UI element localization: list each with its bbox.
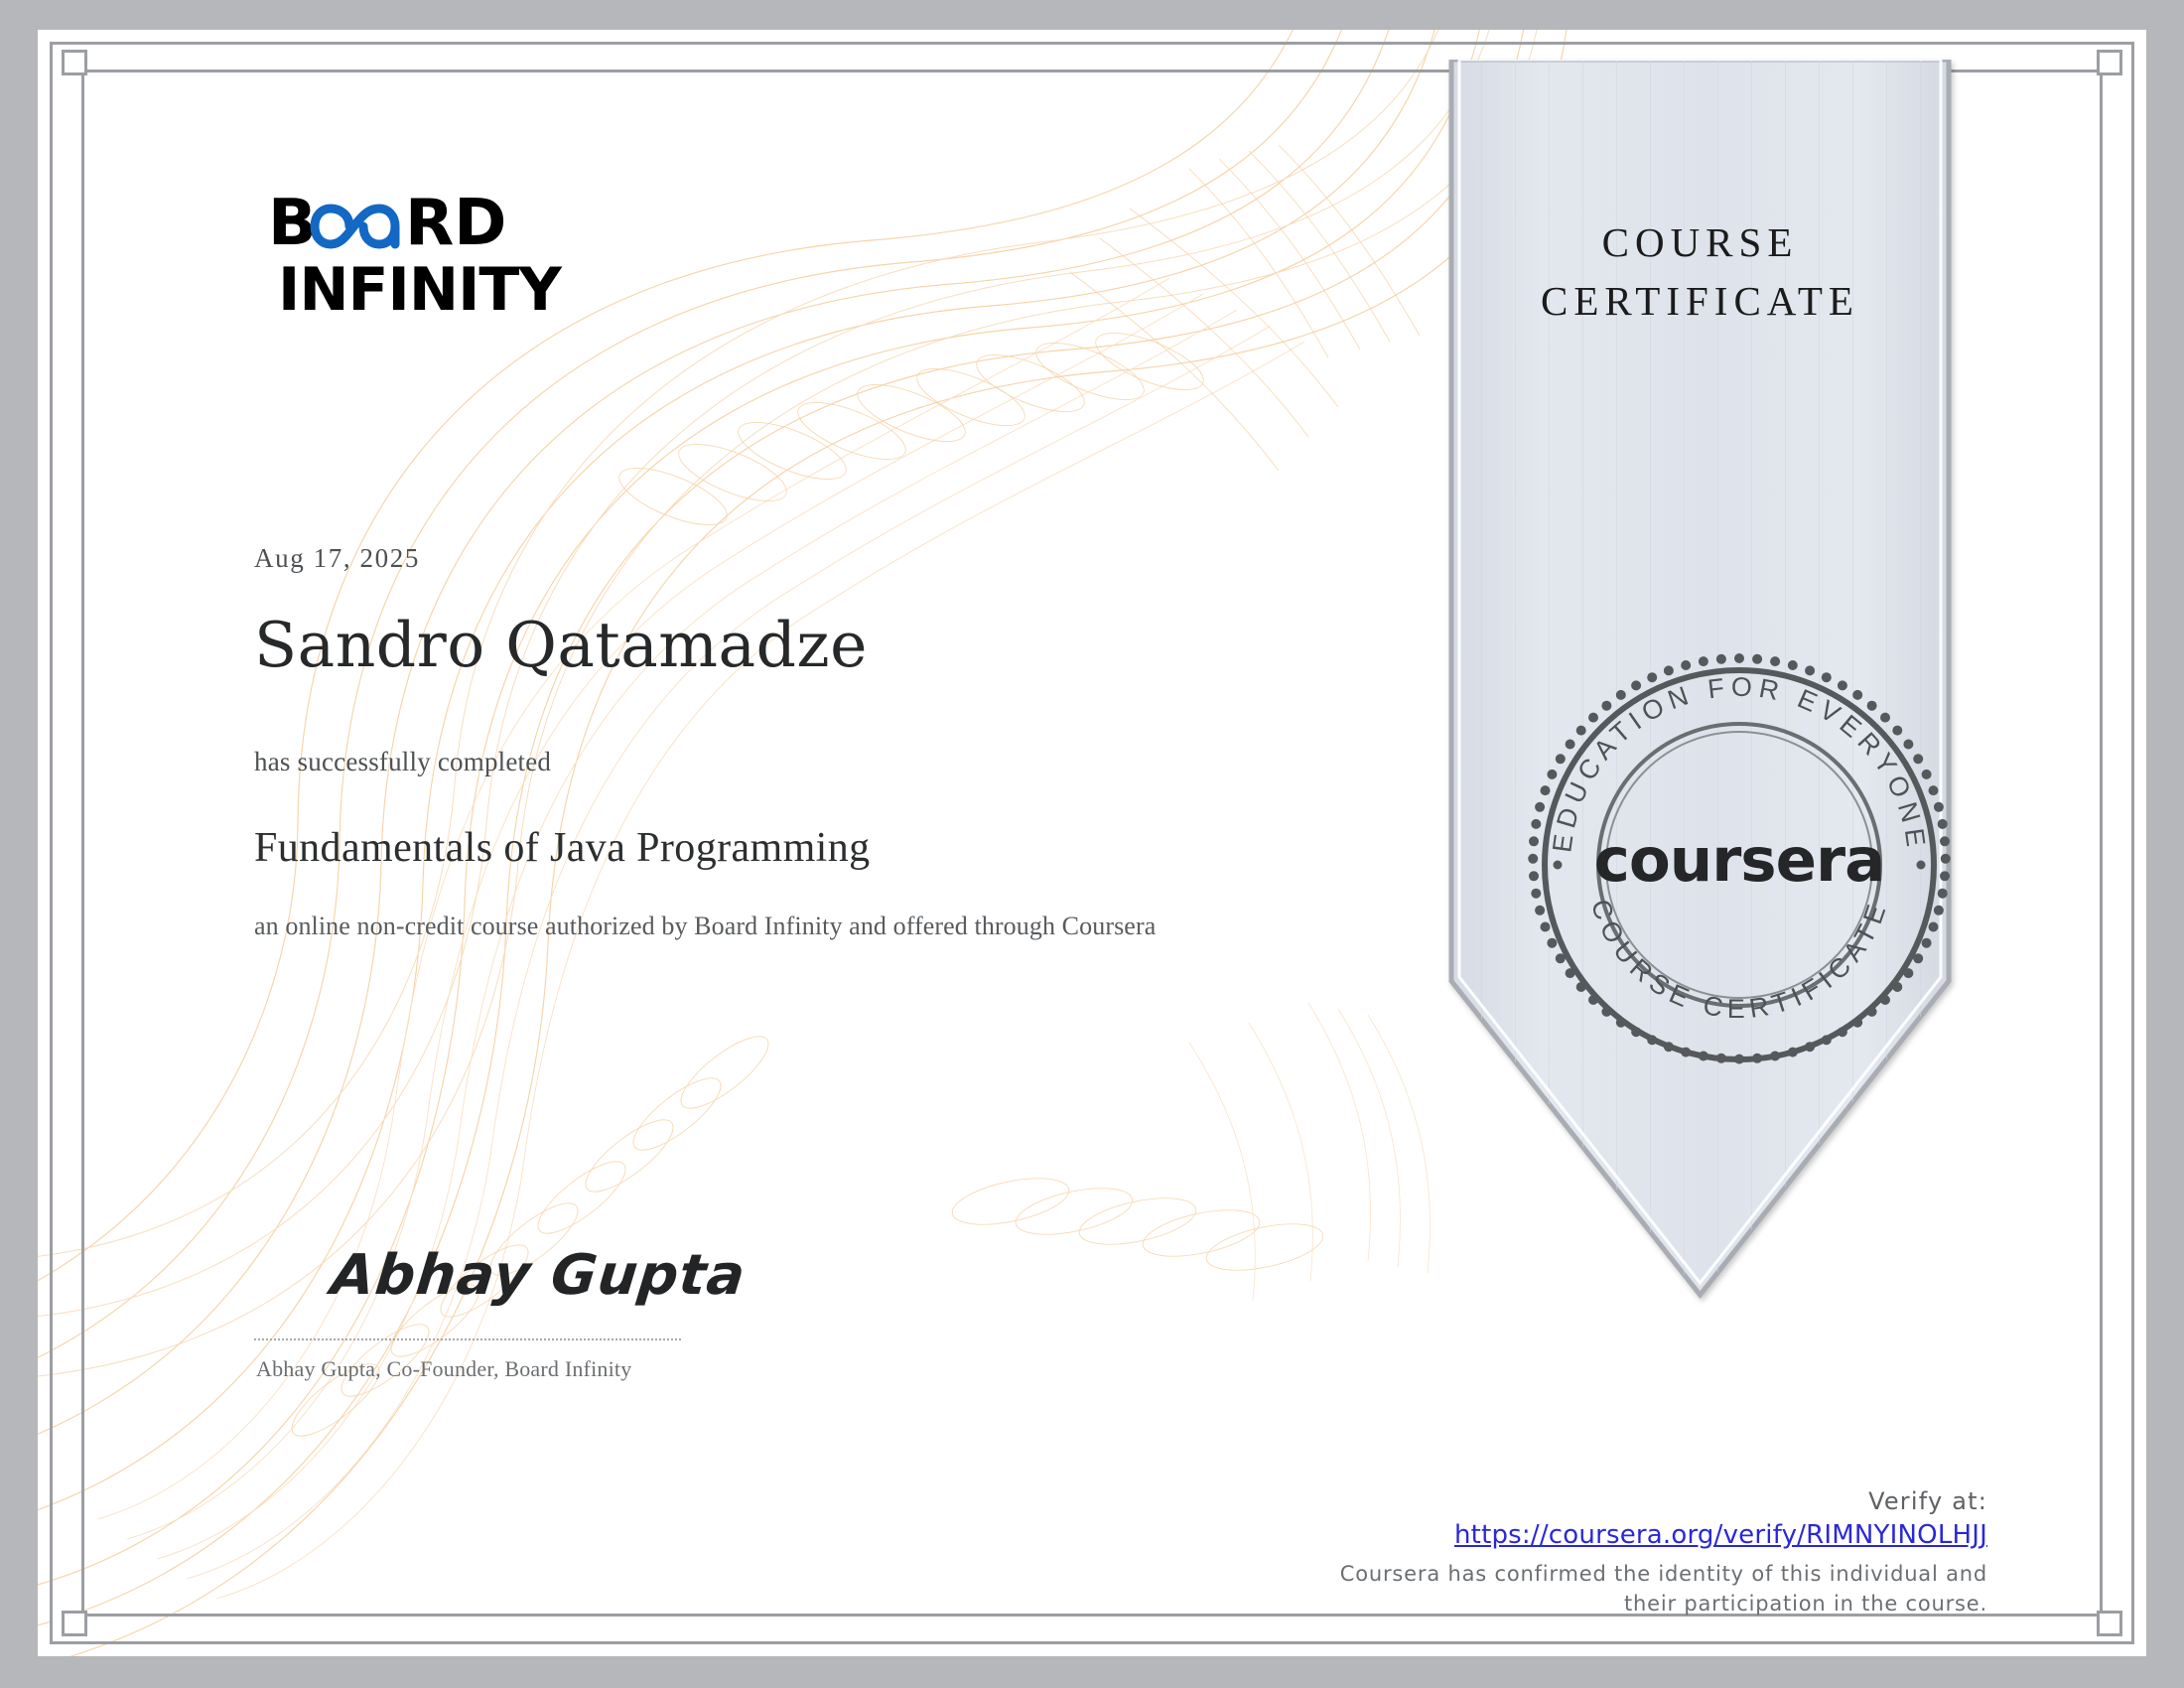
certificate-page: COURSE CERTIFICATE: [0, 0, 2184, 1688]
coursera-seal: EDUCATION FOR EVERYONE COURSE CERTIFICAT…: [1525, 650, 1954, 1079]
signature-script: Abhay Gupta: [329, 1243, 750, 1308]
course-title: Fundamentals of Java Programming: [254, 824, 871, 872]
verify-note-line2: their participation in the course.: [1293, 1589, 1987, 1618]
certificate-content: B RD INFINITY Aug 17, 2025 Sandro Qatama…: [254, 30, 1396, 1656]
course-description: an online non-credit course authorized b…: [254, 912, 1156, 941]
verify-note-line1: Coursera has confirmed the identity of t…: [1293, 1559, 1987, 1589]
certificate-paper: COURSE CERTIFICATE: [38, 30, 2146, 1656]
signature-caption: Abhay Gupta, Co-Founder, Board Infinity: [256, 1356, 631, 1382]
verify-url-link[interactable]: https://coursera.org/verify/RIMNYINOLHJJ: [1454, 1520, 1987, 1550]
logo-text-infinity: INFINITY: [278, 255, 563, 316]
logo-text-b: B: [268, 189, 317, 260]
board-infinity-logo: B RD INFINITY: [268, 189, 596, 316]
banner-title-line2: CERTIFICATE: [1447, 272, 1953, 331]
recipient-name: Sandro Qatamadze: [254, 609, 868, 681]
verify-block: Verify at: https://coursera.org/verify/R…: [1293, 1487, 1987, 1619]
banner-title-line1: COURSE: [1447, 213, 1953, 272]
verify-label: Verify at:: [1293, 1487, 1987, 1515]
signature-rule: [254, 1338, 681, 1340]
completion-phrase: has successfully completed: [254, 747, 551, 777]
issue-date: Aug 17, 2025: [254, 543, 420, 574]
banner-title: COURSE CERTIFICATE: [1447, 213, 1953, 332]
corner-ornament-square-tl: [62, 50, 87, 75]
corner-ornament-square-bl: [62, 1611, 87, 1636]
corner-ornament-square-br: [2097, 1611, 2122, 1636]
coursera-wordmark: coursera: [1594, 825, 1885, 896]
corner-ornament-square-tr: [2097, 50, 2122, 75]
verify-note: Coursera has confirmed the identity of t…: [1293, 1559, 1987, 1619]
seal-bottom-arc-text: COURSE CERTIFICATE: [1585, 896, 1893, 1024]
logo-infinity-icon: [315, 209, 395, 244]
logo-text-rd: RD: [405, 189, 506, 260]
